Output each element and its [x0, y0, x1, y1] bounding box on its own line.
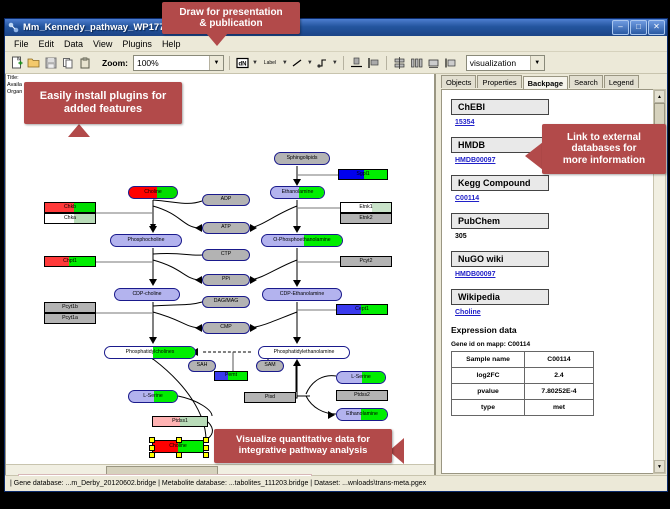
table-row: log2FC 2.4 [452, 368, 594, 384]
node-pcyt1b[interactable]: Pcyt1b [44, 302, 96, 313]
node-ethanolamine-top-label: Ethanolamine [282, 190, 314, 195]
info-title: Title: [7, 75, 22, 82]
node-pisd-label: Pisd [265, 395, 275, 400]
db-nugo-wiki-link[interactable]: HMDB00097 [455, 271, 644, 278]
node-ptdss1-label: Ptdss1 [172, 419, 188, 424]
node-ptdss2[interactable]: Ptdss2 [336, 390, 388, 401]
node-cept1[interactable]: Cept1 [336, 304, 388, 315]
db-chebi-header: ChEBI [451, 99, 549, 115]
node-cmp-label: CMP [220, 325, 232, 330]
menu-file[interactable]: File [9, 38, 34, 50]
toolbar-separator [386, 56, 387, 70]
node-chka-label: Chka [64, 216, 76, 221]
copy-icon[interactable] [60, 55, 75, 70]
table-row: pvalue 7.80252E-4 [452, 384, 594, 400]
db-nugo-wiki: NuGO wiki HMDB00097 [451, 249, 644, 278]
label-text: Label [264, 60, 276, 66]
selection-handle[interactable] [203, 437, 209, 443]
interaction-group[interactable]: ▼ [315, 55, 338, 70]
node-ethanolamine-bottom-label: Ethanolamine [346, 412, 378, 417]
application-window: Mm_Kennedy_pathway_WP1771_45176.gpml – □… [4, 18, 668, 492]
node-l-serine-right-label: L-Serine [351, 375, 371, 380]
node-ptdss2-label: Ptdss2 [354, 393, 370, 398]
window-title-bar: Mm_Kennedy_pathway_WP1771_45176.gpml – □… [5, 19, 667, 36]
selection-handle[interactable] [149, 437, 155, 443]
menu-plugins[interactable]: Plugins [117, 38, 157, 50]
callout-draw-for-presentation-text: Draw for presentation & publication [179, 7, 282, 30]
selection-handle[interactable] [203, 452, 209, 458]
selection-handle[interactable] [149, 452, 155, 458]
node-dagmag-label: DAG/MAG [214, 299, 239, 304]
db-pubchem: PubChem 305 [451, 211, 644, 240]
node-atp-label: ATP [221, 225, 231, 230]
node-phosphatidylethanolamine[interactable]: Phosphatidylethanolamine [258, 346, 350, 359]
new-file-icon[interactable] [9, 55, 24, 70]
node-pcyt1a-label: Pcyt1a [62, 316, 78, 321]
node-sphingolipids-label: Sphingolipids [287, 156, 318, 161]
node-chkb-label: Chkb [64, 205, 76, 210]
menu-help[interactable]: Help [157, 38, 186, 50]
menu-bar: File Edit Data View Plugins Help [5, 36, 667, 52]
node-l-serine-right[interactable]: L-Serine [336, 371, 386, 384]
selection-handle[interactable] [149, 445, 155, 451]
node-cdp-choline-label: CDP-choline [132, 292, 161, 297]
expr-key: Sample name [452, 352, 525, 368]
node-chkb[interactable]: Chkb [44, 202, 96, 213]
close-button[interactable]: ✕ [648, 20, 665, 35]
zoom-label: Zoom: [102, 58, 128, 68]
tab-legend[interactable]: Legend [604, 75, 639, 88]
line-icon[interactable] [290, 55, 305, 70]
node-cdp-ethanolamine[interactable]: CDP-Ethanolamine [262, 288, 342, 301]
node-choline-top[interactable]: Choline [128, 186, 178, 199]
node-pcyt1a[interactable]: Pcyt1a [44, 313, 96, 324]
window-controls: – □ ✕ [612, 20, 667, 35]
scroll-up-icon[interactable]: ▲ [654, 90, 665, 103]
chevron-down-icon[interactable]: ▼ [332, 60, 338, 66]
pathway-canvas[interactable]: Title: Availa Organ [5, 74, 435, 477]
callout-draw-arrow [206, 33, 228, 46]
callout-easily-install-plugins: Easily install plugins for added feature… [24, 82, 182, 124]
tab-search[interactable]: Search [569, 75, 603, 88]
tab-properties[interactable]: Properties [477, 75, 521, 88]
callout-link-to-external-databases-text: Link to external databases for more info… [563, 132, 645, 167]
node-ctp[interactable]: CTP [202, 249, 250, 261]
callout-easily-install-plugins-text: Easily install plugins for added feature… [40, 90, 167, 115]
node-adp-label: ADP [221, 197, 232, 202]
node-pcyt1b-label: Pcyt1b [62, 305, 78, 310]
node-sgpl1[interactable]: Sgpl1 [338, 169, 388, 180]
db-chebi: ChEBI 15354 [451, 97, 644, 126]
node-chpt1-label: Chpt1 [63, 259, 77, 264]
chevron-down-icon[interactable]: ▼ [530, 56, 544, 70]
node-o-phosphoethanolamine-label: O-Phosphoethanolamine [273, 238, 330, 243]
status-bar: | Gene database: ...m_Derby_20120602.bri… [5, 475, 667, 491]
node-chkb-value-fill [74, 203, 95, 212]
chevron-down-icon[interactable]: ▼ [209, 56, 223, 70]
node-choline-selected-label: Choline [169, 444, 187, 449]
node-etnk2-label: Etnk2 [359, 216, 372, 221]
toolbar-separator [229, 56, 230, 70]
visualization-value: visualization [470, 58, 516, 68]
paste-icon[interactable] [77, 55, 92, 70]
label-group[interactable]: Label ▼ [260, 55, 288, 70]
expr-value: met [525, 400, 594, 416]
pathvisio-icon [8, 22, 19, 33]
db-kegg-compound-header: Kegg Compound [451, 175, 549, 191]
node-cdp-ethanolamine-label: CDP-Ethanolamine [280, 292, 324, 297]
chevron-down-icon[interactable]: ▼ [307, 60, 313, 66]
node-pcyt2-label: Pcyt2 [360, 259, 373, 264]
node-pisd[interactable]: Pisd [244, 392, 296, 403]
node-atp[interactable]: ATP [202, 222, 250, 234]
node-l-serine-left[interactable]: L-Serine [128, 390, 178, 403]
menu-view[interactable]: View [88, 38, 117, 50]
gene-id-label: Gene id on mapp: C00114 [451, 341, 644, 348]
db-pubchem-value: 305 [455, 233, 644, 240]
zoom-value: 100% [137, 58, 159, 68]
node-phosphocholine[interactable]: Phosphocholine [110, 234, 182, 247]
scroll-down-icon[interactable]: ▼ [654, 460, 665, 473]
expr-value: C00114 [525, 352, 594, 368]
expr-key: pvalue [452, 384, 525, 400]
node-chka[interactable]: Chka [44, 213, 96, 224]
node-pcyt2[interactable]: Pcyt2 [340, 256, 392, 267]
interaction-icon[interactable] [315, 55, 330, 70]
callout-draw-for-presentation: Draw for presentation & publication [162, 2, 300, 34]
node-sphingolipids[interactable]: Sphingolipids [274, 152, 330, 165]
db-pubchem-header: PubChem [451, 213, 549, 229]
node-etnk2[interactable]: Etnk2 [340, 213, 392, 224]
node-l-serine-left-label: L-Serine [143, 394, 163, 399]
node-sgpl1-label: Sgpl1 [356, 172, 369, 177]
align-bottom-icon[interactable] [349, 55, 364, 70]
node-cept1-label: Cept1 [355, 307, 369, 312]
maximize-button[interactable]: □ [630, 20, 647, 35]
callout-visualize-quantitative-data-text: Visualize quantitative data for integrat… [236, 435, 370, 457]
chevron-down-icon[interactable]: ▼ [252, 60, 258, 66]
selection-handle[interactable] [203, 445, 209, 451]
distribute-icon[interactable] [409, 55, 424, 70]
db-wikipedia: Wikipedia Choline [451, 287, 644, 316]
menu-data[interactable]: Data [59, 38, 88, 50]
pathway-info-box: Title: Availa Organ [7, 75, 22, 96]
node-sah[interactable]: SAH [188, 360, 216, 372]
node-etnk1[interactable]: Etnk1 [340, 202, 392, 213]
callout-plugins-arrow [68, 124, 90, 137]
callout-visualize-quantitative-data: Visualize quantitative data for integrat… [214, 429, 392, 463]
db-wikipedia-header: Wikipedia [451, 289, 549, 305]
align-left-icon[interactable] [366, 55, 381, 70]
svg-text:dN: dN [238, 61, 246, 67]
db-kegg-compound: Kegg Compound C00114 [451, 173, 644, 202]
selection-handle[interactable] [176, 452, 182, 458]
callout-link-to-external-databases: Link to external databases for more info… [542, 124, 666, 174]
visualization-combo[interactable]: visualization ▼ [466, 55, 545, 71]
tab-objects[interactable]: Objects [441, 75, 476, 88]
node-ethanolamine-top[interactable]: Ethanolamine [270, 186, 325, 199]
zoom-combo[interactable]: 100% ▼ [133, 55, 224, 71]
line-group[interactable]: ▼ [290, 55, 313, 70]
node-pemt-label: Pemt [225, 373, 237, 378]
chevron-down-icon[interactable]: ▼ [282, 60, 288, 66]
node-ppi-label: PPi [222, 277, 230, 282]
node-cmp[interactable]: CMP [202, 322, 250, 334]
node-sam-right-label: SAM [264, 363, 275, 368]
db-nugo-wiki-header: NuGO wiki [451, 251, 549, 267]
open-file-icon[interactable] [26, 55, 41, 70]
main-toolbar: Zoom: 100% ▼ dN ▼ Label ▼ ▼ ▼ [5, 52, 667, 74]
stack-vertical-icon[interactable] [392, 55, 407, 70]
node-phosphatidylethanolamine-label: Phosphatidylethanolamine [274, 350, 335, 355]
status-bar-text: | Gene database: ...m_Derby_20120602.bri… [5, 480, 426, 487]
table-row: Sample name C00114 [452, 352, 594, 368]
side-panel-tabs: Objects Properties Backpage Search Legen… [436, 74, 667, 88]
node-pemt[interactable]: Pemt [214, 371, 248, 381]
info-organism: Organ [7, 89, 22, 96]
node-phosphatidylcholines[interactable]: Phosphatidylcholines [104, 346, 196, 359]
save-file-icon[interactable] [43, 55, 58, 70]
menu-edit[interactable]: Edit [34, 38, 60, 50]
node-dagmag[interactable]: DAG/MAG [202, 296, 250, 308]
node-adp[interactable]: ADP [202, 194, 250, 206]
node-phosphatidylcholines-label: Phosphatidylcholines [126, 350, 175, 355]
node-chka-value-fill [74, 214, 95, 223]
node-ethanolamine-bottom[interactable]: Ethanolamine [336, 408, 388, 421]
expr-key: log2FC [452, 368, 525, 384]
label-icon[interactable]: Label [260, 55, 280, 70]
selection-handle[interactable] [176, 437, 182, 443]
node-ptdss1[interactable]: Ptdss1 [152, 416, 208, 427]
node-o-phosphoethanolamine[interactable]: O-Phosphoethanolamine [261, 234, 343, 247]
tab-backpage[interactable]: Backpage [523, 76, 568, 89]
expr-value: 7.80252E-4 [525, 384, 594, 400]
node-ppi[interactable]: PPi [202, 274, 250, 286]
node-etnk1-value-fill [372, 203, 391, 212]
datanode-icon[interactable]: dN [235, 55, 250, 70]
node-sah-label: SAH [197, 363, 208, 368]
node-cdp-choline[interactable]: CDP-choline [114, 288, 180, 301]
info-available: Availa [7, 82, 22, 89]
expr-key: type [452, 400, 525, 416]
callout-link-arrow [525, 142, 543, 170]
datanode-group[interactable]: dN ▼ [235, 55, 258, 70]
node-chpt1[interactable]: Chpt1 [44, 256, 96, 267]
node-etnk1-label: Etnk1 [359, 205, 372, 210]
expression-table: Sample name C00114 log2FC 2.4 pvalue 7.8… [451, 351, 594, 416]
expression-data-heading: Expression data [451, 325, 644, 335]
toolbar-separator [343, 56, 344, 70]
table-row: type met [452, 400, 594, 416]
node-choline-top-label: Choline [144, 190, 162, 195]
size-width-icon[interactable] [443, 55, 458, 70]
node-phosphocholine-label: Phosphocholine [128, 238, 165, 243]
minimize-button[interactable]: – [612, 20, 629, 35]
size-equal-icon[interactable] [426, 55, 441, 70]
node-sam-right[interactable]: SAM [256, 360, 284, 372]
node-ctp-label: CTP [221, 252, 231, 257]
db-kegg-compound-link[interactable]: C00114 [455, 195, 644, 202]
db-wikipedia-link[interactable]: Choline [455, 309, 644, 316]
expr-value: 2.4 [525, 368, 594, 384]
